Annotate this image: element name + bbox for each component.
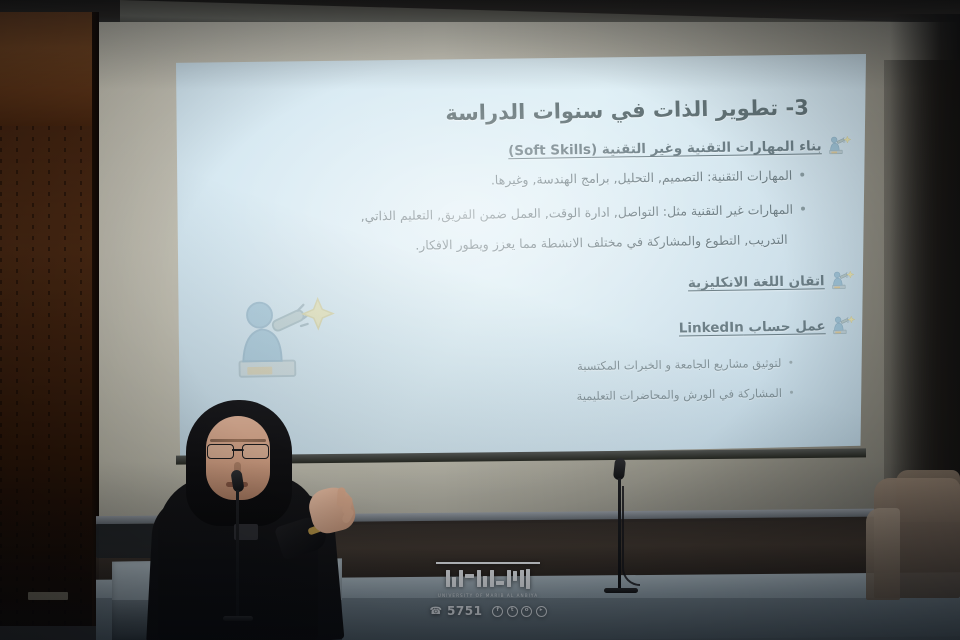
twitter-icon[interactable]: t: [507, 606, 518, 617]
logo-stroke: [490, 570, 494, 587]
lens-left: [207, 444, 234, 459]
bullet-dot: [800, 173, 804, 177]
speaker-presenter: [150, 392, 360, 640]
university-name-latin: UNIVERSITY OF MARIB AL ANBIYA: [432, 593, 544, 598]
logo-stroke: [483, 576, 487, 587]
lecture-hall-scene: 3- تطوير الذات في سنوات الدراسة بناء الم…: [0, 0, 960, 640]
university-logo-icon: [436, 562, 540, 592]
phone-number: 5751: [447, 604, 482, 618]
instagram-icon[interactable]: o: [521, 606, 532, 617]
slide-bullet-3-1: لتوثيق مشاريع الجامعة و الخبرات المكتسبة: [577, 356, 793, 373]
logo-stroke: [496, 581, 504, 585]
logo-stroke: [526, 569, 530, 589]
microphone-base: [223, 616, 253, 621]
slide-bullet-1-3: التدريب, التطوع والمشاركة في مختلف الانش…: [415, 232, 788, 253]
slide-bullet-text: المهارات غير التقنية مثل: التواصل, ادارة…: [361, 202, 794, 224]
slide-bullet-text: المهارات التقنية: التصميم, التحليل, برام…: [491, 168, 793, 188]
logo-stroke: [507, 570, 511, 587]
wall-baseplate: [28, 592, 68, 600]
speaker-eyebrows: [210, 439, 266, 442]
logo-stroke: [459, 570, 463, 587]
microphone-base: [604, 588, 638, 593]
slide-bullet-text: المشاركة في الورش والمحاضرات التعليمية: [576, 386, 782, 403]
eyeglasses-icon: [207, 444, 269, 457]
wood-panel-shading: [0, 12, 96, 626]
bullet-clipart-icon-2: [828, 268, 855, 292]
microphone-stand: [618, 478, 621, 590]
microphone-stand: [236, 490, 239, 618]
wall-socket: [96, 524, 154, 558]
bullet-dot: [790, 390, 793, 393]
watermark-contact-row: ☎ 5751 f t o ▸: [432, 604, 544, 618]
university-watermark: UNIVERSITY OF MARIB AL ANBIYA ☎ 5751 f t…: [432, 562, 544, 618]
phone-icon: ☎: [429, 606, 442, 617]
logo-stroke: [520, 570, 524, 587]
logo-stroke: [513, 571, 517, 581]
armchair-armrest: [866, 508, 900, 600]
slide-title: 3- تطوير الذات في سنوات الدراسة: [445, 95, 809, 125]
slide-bullet-1-2: المهارات غير التقنية مثل: التواصل, ادارة…: [361, 202, 806, 224]
slide-bullet-3-2: المشاركة في الورش والمحاضرات التعليمية: [576, 386, 793, 403]
bullet-dot: [801, 207, 805, 211]
youtube-icon[interactable]: ▸: [536, 606, 547, 617]
slide-section-heading-3: عمل حساب LinkedIn: [679, 318, 826, 336]
slide-section-heading-1: بناء المهارات التقنية وغير التقنية (Soft…: [508, 138, 822, 159]
logo-stroke: [465, 574, 474, 578]
logo-stroke: [477, 570, 481, 587]
person-with-telescope-icon: [221, 289, 338, 387]
bullet-clipart-icon-1: [825, 133, 852, 157]
slide-bullet-1-1: المهارات التقنية: التصميم, التحليل, برام…: [491, 168, 805, 188]
facebook-icon[interactable]: f: [492, 606, 503, 617]
slide-bullet-text: لتوثيق مشاريع الجامعة و الخبرات المكتسبة: [577, 356, 782, 373]
lens-right: [242, 444, 269, 459]
slide-section-heading-2: اتقان اللغة الانكليزية: [688, 273, 825, 291]
right-wall-shadow: [890, 14, 960, 484]
social-icons-group: f t o ▸: [492, 606, 547, 617]
logo-stroke: [446, 570, 450, 587]
logo-stroke: [452, 577, 456, 587]
microphone-cable: [622, 486, 640, 586]
bullet-clipart-icon-3: [829, 313, 856, 337]
bullet-dot: [789, 360, 792, 363]
